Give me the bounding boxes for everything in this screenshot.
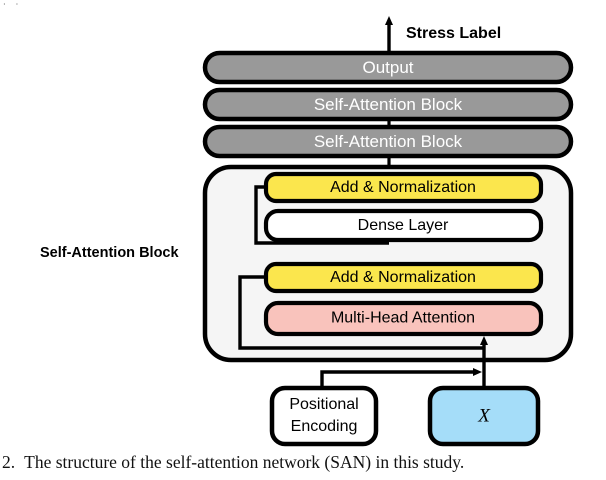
label-input-x: X [477, 405, 491, 426]
stacked-blocks: Output Self-Attention Block Self-Attenti… [205, 53, 571, 156]
figure-caption: 2.The structure of the self-attention ne… [0, 452, 606, 473]
caption-text: The structure of the self-attention netw… [24, 452, 464, 472]
caption-number: 2. [0, 452, 24, 473]
figure-san-architecture: · · Output Self-Attention Block Self-Att… [0, 0, 606, 480]
label-positional-encoding-line2: Encoding [291, 418, 358, 435]
block-label-self-attention-block-2: Self-Attention Block [314, 95, 463, 114]
label-add-norm-top: Add & Normalization [330, 179, 476, 196]
positional-encoding-arrow [322, 372, 474, 388]
label-dense-layer: Dense Layer [358, 217, 449, 234]
label-add-norm-bottom: Add & Normalization [330, 269, 476, 286]
block-label-self-attention-block-1: Self-Attention Block [314, 132, 463, 151]
self-attention-block-side-label: Self-Attention Block [40, 245, 179, 261]
input-boxes: Positional Encoding X [272, 388, 538, 444]
label-positional-encoding-line1: Positional [289, 396, 358, 413]
block-label-output: Output [362, 58, 413, 77]
label-multi-head-attention: Multi-Head Attention [331, 310, 475, 327]
diagram-canvas: Output Self-Attention Block Self-Attenti… [0, 0, 606, 452]
stress-label-text: Stress Label [406, 25, 501, 42]
